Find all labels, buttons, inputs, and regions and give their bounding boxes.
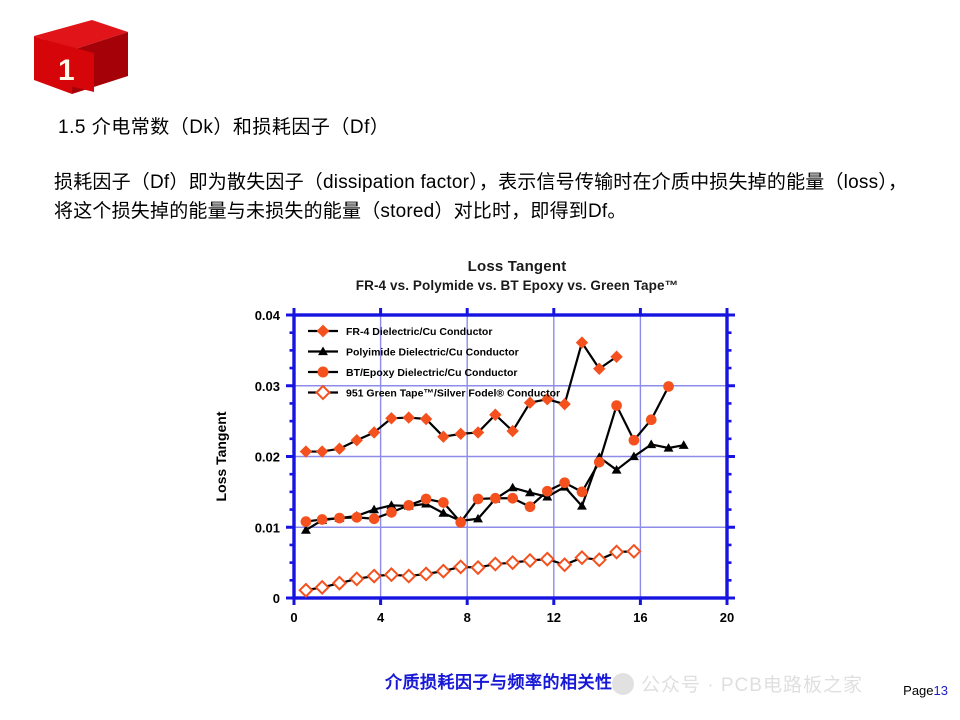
cube-icon: 1 <box>28 14 138 100</box>
x-tick-label: 8 <box>464 610 471 625</box>
legend-label-0: FR-4 Dielectric/Cu Conductor <box>346 326 492 338</box>
watermark: 公众号 · PCB电路板之家 <box>612 670 863 697</box>
x-tick-label: 16 <box>633 610 647 625</box>
watermark-label: 公众号 · PCB电路板之家 <box>641 670 863 697</box>
body-paragraph: 损耗因子（Df）即为散失因子（dissipation factor），表示信号传… <box>54 168 916 226</box>
chart-subtitle: FR-4 vs. Polymide vs. BT Epoxy vs. Green… <box>252 278 782 293</box>
legend-label-2: BT/Epoxy Dielectric/Cu Conductor <box>346 367 518 379</box>
page-title: 1.5 介电常数（Dk）和损耗因子（Df） <box>58 112 389 139</box>
y-tick-label: 0.04 <box>255 308 281 323</box>
slide-number-cube: 1 <box>28 14 138 100</box>
chart-title: Loss Tangent <box>252 258 782 275</box>
y-tick-label: 0.01 <box>255 520 280 535</box>
x-tick-label: 4 <box>377 610 385 625</box>
legend-label-3: 951 Green Tape™/Silver Fodel® Conductor <box>346 388 560 400</box>
chart-svg: 04812162000.010.020.030.04 Frquency, (GH… <box>182 293 782 633</box>
plot-area: 04812162000.010.020.030.04 Frquency, (GH… <box>182 293 782 633</box>
series-2 <box>301 381 674 528</box>
cube-number-label: 1 <box>58 54 75 87</box>
y-axis-title: Loss Tangent <box>213 411 229 501</box>
series-3 <box>300 545 640 596</box>
chart-figure: Loss Tangent FR-4 vs. Polymide vs. BT Ep… <box>182 258 782 648</box>
figure-caption: 介质损耗因子与频率的相关性 <box>385 668 613 693</box>
chart-legend: FR-4 Dielectric/Cu ConductorPolyimide Di… <box>308 325 560 400</box>
y-tick-label: 0.02 <box>255 450 280 465</box>
x-tick-label: 0 <box>290 610 297 625</box>
watermark-logo-icon <box>612 673 634 695</box>
page-number-value: 13 <box>934 683 948 698</box>
page-number-label: Page <box>903 683 933 698</box>
y-tick-label: 0 <box>273 591 280 606</box>
x-tick-label: 20 <box>720 610 734 625</box>
legend-label-1: Polyimide Dielectric/Cu Conductor <box>346 347 519 359</box>
page-number: Page13 <box>903 683 948 698</box>
x-tick-label: 12 <box>547 610 561 625</box>
y-tick-label: 0.03 <box>255 379 280 394</box>
